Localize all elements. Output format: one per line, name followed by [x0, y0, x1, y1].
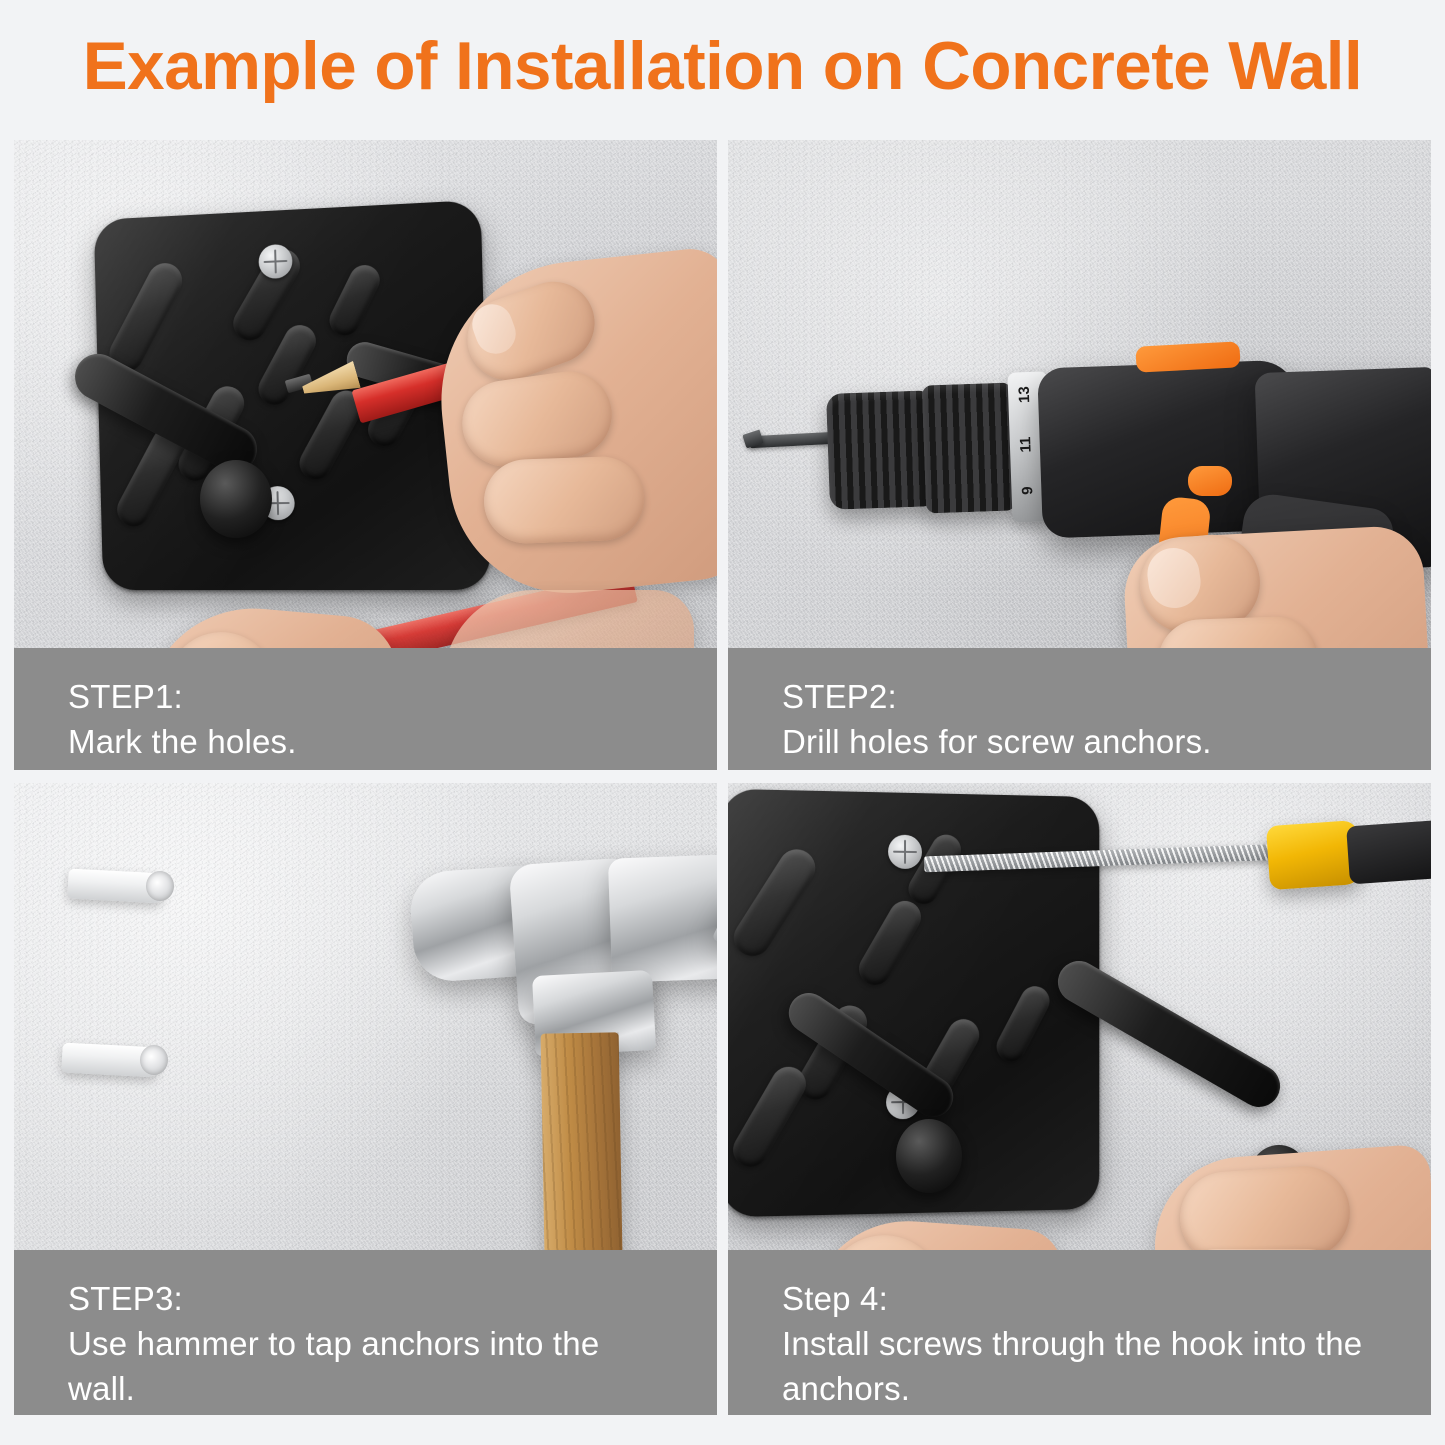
clutch-number-11: 11 — [1017, 436, 1035, 452]
step-1-label: STEP1: — [68, 674, 717, 719]
wall-anchor-top-tip — [146, 871, 174, 901]
hammer-claw — [608, 851, 717, 982]
drill-top-orange-accent — [1135, 341, 1240, 372]
screw-mark-top — [258, 244, 293, 279]
step-3-label: STEP3: — [68, 1276, 717, 1321]
step-panel-4: Step 4: Install screws through the hook … — [728, 783, 1431, 1415]
plate-peg — [253, 319, 322, 410]
drill-chuck-rear — [922, 382, 1016, 513]
hook-tip-left — [200, 460, 272, 538]
steps-grid: STEP1: Mark the holes. 13 11 9 — [14, 140, 1431, 1416]
step-4-photo — [728, 783, 1431, 1250]
wall-anchor-bottom-tip — [140, 1045, 168, 1075]
step-panel-2: 13 11 9 STEP2: Drill — [728, 140, 1431, 770]
step-2-photo: 13 11 9 — [728, 140, 1431, 648]
drill-chuck — [826, 390, 938, 510]
screwdriver-grip — [1346, 820, 1431, 885]
step-2-text: Drill holes for screw anchors. — [782, 719, 1382, 764]
plate-peg — [728, 1061, 812, 1174]
step-2-caption: STEP2: Drill holes for screw anchors. — [728, 648, 1431, 770]
step-3-caption: STEP3: Use hammer to tap anchors into th… — [14, 1250, 717, 1415]
finger — [483, 455, 646, 545]
screw-hole-top — [260, 246, 290, 277]
plate-peg — [853, 895, 927, 991]
step-panel-1: STEP1: Mark the holes. — [14, 140, 717, 770]
page-title: Example of Installation on Concrete Wall — [7, 26, 1438, 106]
screw-installed-top — [888, 835, 922, 870]
hammer-handle — [541, 1032, 626, 1250]
plate-peg — [728, 842, 822, 963]
step-4-text: Install screws through the hook into the… — [782, 1321, 1382, 1411]
step-2-label: STEP2: — [782, 674, 1431, 719]
finger — [1177, 1163, 1353, 1250]
screw-hole-top — [890, 837, 920, 868]
plate-peg — [227, 243, 306, 346]
step-1-caption: STEP1: Mark the holes. — [14, 648, 717, 770]
plate-peg — [991, 981, 1054, 1067]
step-3-photo — [14, 783, 717, 1250]
step-4-label: Step 4: — [782, 1276, 1431, 1321]
drill-speed-switch — [1188, 466, 1232, 496]
clutch-number-13: 13 — [1016, 386, 1034, 403]
step-panel-3: STEP3: Use hammer to tap anchors into th… — [14, 783, 717, 1415]
installation-infographic: Example of Installation on Concrete Wall — [0, 0, 1445, 1445]
step-3-text: Use hammer to tap anchors into the wall. — [68, 1321, 668, 1411]
hook-tip-left — [896, 1119, 962, 1193]
step-1-photo — [14, 140, 717, 648]
clutch-number-9: 9 — [1019, 486, 1036, 495]
step-1-text: Mark the holes. — [68, 719, 668, 764]
plate-peg — [324, 260, 385, 340]
step-4-caption: Step 4: Install screws through the hook … — [728, 1250, 1431, 1415]
